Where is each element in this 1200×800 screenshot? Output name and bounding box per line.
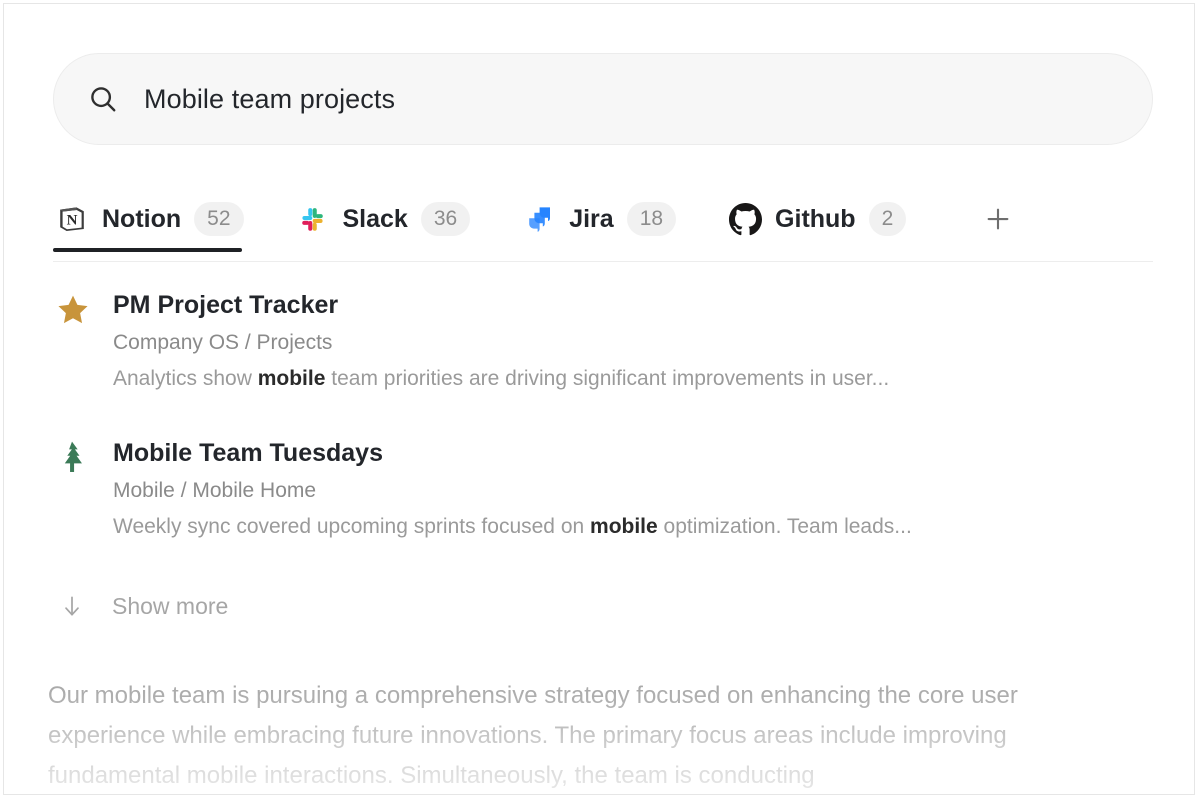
snippet-before: Weekly sync covered upcoming sprints foc… xyxy=(113,515,590,538)
slack-icon xyxy=(296,202,330,236)
notion-icon: N xyxy=(55,202,89,236)
result-title: Mobile Team Tuesdays xyxy=(113,436,1153,470)
tab-count-badge: 2 xyxy=(869,202,907,236)
snippet-after: team priorities are driving significant … xyxy=(325,367,889,390)
tab-jira[interactable]: Jira 18 xyxy=(520,186,692,252)
plus-icon xyxy=(983,204,1013,234)
tab-count-badge: 36 xyxy=(421,202,470,236)
show-more-label: Show more xyxy=(112,593,228,620)
snippet-match: mobile xyxy=(258,367,326,390)
tab-label: Slack xyxy=(343,205,408,234)
result-path: Mobile / Mobile Home xyxy=(113,476,1153,506)
tab-label: Notion xyxy=(102,205,181,234)
arrow-down-icon xyxy=(53,587,91,625)
add-source-button[interactable] xyxy=(972,186,1024,252)
result-path: Company OS / Projects xyxy=(113,328,1153,358)
tab-label: Jira xyxy=(569,205,613,234)
snippet-after: optimization. Team leads... xyxy=(658,515,912,538)
summary-text: Our mobile team is pursuing a comprehens… xyxy=(48,676,1140,795)
jira-icon xyxy=(522,202,556,236)
search-input[interactable]: Mobile team projects xyxy=(53,53,1153,145)
result-title: PM Project Tracker xyxy=(113,288,1153,322)
tab-notion[interactable]: N Notion 52 xyxy=(53,186,260,252)
search-icon xyxy=(88,84,118,114)
result-item[interactable]: PM Project Tracker Company OS / Projects… xyxy=(53,288,1153,394)
snippet-before: Analytics show xyxy=(113,367,258,390)
result-item[interactable]: Mobile Team Tuesdays Mobile / Mobile Hom… xyxy=(53,436,1153,542)
svg-text:N: N xyxy=(67,213,78,229)
app-window: Mobile team projects N Notion 52 xyxy=(3,3,1195,795)
search-results-list: PM Project Tracker Company OS / Projects… xyxy=(53,288,1153,584)
tab-count-badge: 18 xyxy=(627,202,676,236)
tab-count-badge: 52 xyxy=(194,202,243,236)
tab-label: Github xyxy=(775,205,856,234)
snippet-match: mobile xyxy=(590,515,658,538)
evergreen-tree-icon xyxy=(55,438,99,478)
result-snippet: Weekly sync covered upcoming sprints foc… xyxy=(113,512,1153,542)
result-snippet: Analytics show mobile team priorities ar… xyxy=(113,364,1153,394)
tab-slack[interactable]: Slack 36 xyxy=(294,186,487,252)
summary-preview: Our mobile team is pursuing a comprehens… xyxy=(48,676,1140,795)
tab-github[interactable]: Github 2 xyxy=(726,186,922,252)
source-tabs: N Notion 52 xyxy=(53,186,1153,262)
github-icon xyxy=(728,202,762,236)
tab-divider xyxy=(53,261,1153,262)
show-more-button[interactable]: Show more xyxy=(53,587,228,625)
star-icon xyxy=(55,290,99,330)
search-query-text: Mobile team projects xyxy=(144,84,395,115)
